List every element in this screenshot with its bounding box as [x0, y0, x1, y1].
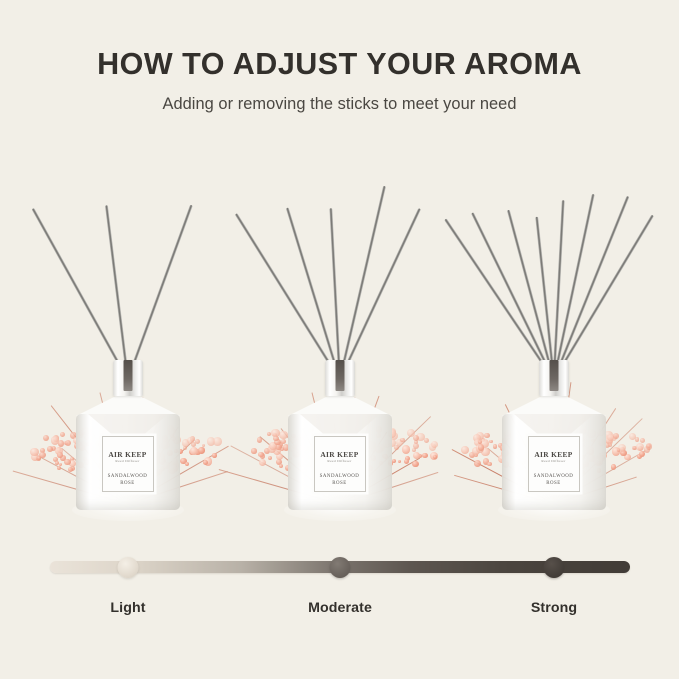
label-scent: SANDALWOOD ROSE [103, 474, 153, 487]
flower-blossom [279, 464, 283, 468]
flower-blossom [414, 440, 418, 444]
flower-blossom [198, 448, 203, 453]
flower-blossom [629, 433, 636, 440]
flower-blossom [273, 436, 278, 441]
bottle-collar [113, 360, 143, 396]
flower-blossom [478, 444, 484, 450]
bottle-label: AIR KEEP Reed Diffuser SANDALWOOD ROSE [314, 436, 366, 492]
diffuser-light: AIR KEEP Reed Diffuser SANDALWOOD ROSE [20, 150, 235, 510]
diffuser-strong: AIR KEEP Reed Diffuser SANDALWOOD ROSE [446, 150, 661, 510]
flower-blossom [60, 432, 65, 437]
flower-blossom [640, 438, 645, 443]
flower-blossom [64, 441, 68, 445]
flower-blossom [59, 463, 63, 467]
flower-blossom [605, 435, 613, 443]
flower-blossom [476, 432, 485, 441]
flower-blossom [268, 456, 272, 460]
product-row: AIR KEEP Reed Diffuser SANDALWOOD ROSE [0, 150, 679, 510]
flower-blossom [276, 459, 282, 465]
flower-blossom [416, 433, 425, 442]
flower-blossom [407, 429, 415, 437]
flower-blossom [613, 433, 619, 439]
flower-blossom [433, 455, 437, 459]
label-brand: AIR KEEP [529, 451, 579, 458]
flower-blossom [469, 452, 475, 458]
flower-blossom [274, 439, 280, 445]
flower-blossom [481, 448, 490, 457]
flower-blossom [37, 456, 41, 460]
flower-blossom [604, 431, 613, 440]
bottle-body: AIR KEEP Reed Diffuser SANDALWOOD ROSE [288, 414, 392, 510]
flower-blossom [617, 448, 621, 452]
flower-blossom [30, 448, 38, 456]
flower-blossom [55, 447, 63, 455]
reed-sticks-light [20, 150, 235, 380]
flower-blossom [273, 447, 281, 455]
flower-blossom [405, 456, 410, 461]
flower-blossom [190, 436, 195, 441]
bottle-label: AIR KEEP Reed Diffuser SANDALWOOD ROSE [102, 436, 154, 492]
flower-blossom [259, 459, 266, 466]
flower-blossom [400, 438, 405, 443]
flower-blossom [476, 444, 484, 452]
label-scent: SANDALWOOD ROSE [315, 474, 365, 487]
flower-blossom [260, 453, 266, 459]
flower-blossom [183, 446, 187, 450]
label-brand: AIR KEEP [103, 451, 153, 458]
flower-blossom [404, 459, 409, 464]
reed-stick [338, 186, 386, 381]
infographic-canvas: HOW TO ADJUST YOUR AROMA Adding or remov… [0, 0, 679, 679]
slider-label-moderate: Moderate [308, 600, 372, 616]
bottle-collar [325, 360, 355, 396]
flower-blossom [36, 456, 41, 461]
flower-blossom [190, 447, 198, 455]
flower-blossom [637, 454, 642, 459]
bottle-collar [539, 360, 569, 396]
flower-blossom [646, 444, 650, 448]
flower-blossom [185, 462, 189, 466]
flower-blossom [392, 459, 396, 463]
flower-blossom [195, 439, 200, 444]
flower-blossom [636, 443, 644, 451]
flower-blossom [430, 454, 434, 458]
flower-blossom [194, 449, 201, 456]
reed-stick [31, 208, 129, 381]
bottle-label: AIR KEEP Reed Diffuser SANDALWOOD ROSE [528, 436, 580, 492]
flower-blossom [60, 455, 65, 460]
flower-blossom [413, 443, 419, 449]
flower-blossom [474, 460, 481, 467]
label-scent-line1: SANDALWOOD [315, 474, 365, 481]
flower-blossom [257, 437, 263, 443]
diffuser-bottle-moderate: AIR KEEP Reed Diffuser SANDALWOOD ROSE [288, 360, 392, 510]
flower-blossom [647, 444, 651, 448]
flower-blossom [429, 443, 436, 450]
reed-sticks-moderate [232, 150, 447, 380]
flower-blossom [273, 433, 277, 437]
flower-blossom [480, 439, 489, 448]
label-scent: SANDALWOOD ROSE [529, 474, 579, 487]
flower-blossom [620, 450, 627, 457]
flower-blossom [606, 438, 613, 445]
flower-blossom [418, 454, 422, 458]
flower-blossom [207, 437, 215, 445]
flower-blossom [68, 467, 73, 472]
flower-blossom [633, 446, 638, 451]
flower-blossom [251, 448, 256, 453]
collar-opening [335, 360, 344, 391]
flower-blossom [430, 452, 438, 460]
flower-blossom [64, 459, 70, 465]
flower-blossom [608, 443, 612, 447]
flower-blossom [413, 452, 420, 459]
intensity-slider[interactable] [50, 558, 630, 576]
flower-blossom [258, 452, 264, 458]
flower-blossom [474, 439, 481, 446]
flower-blossom [57, 447, 61, 451]
flower-blossom [202, 444, 205, 447]
flower-blossom [431, 441, 438, 448]
flower-blossom [280, 447, 284, 451]
flower-blossom [55, 461, 59, 465]
diffuser-bottle-light: AIR KEEP Reed Diffuser SANDALWOOD ROSE [76, 360, 180, 510]
flower-blossom [624, 454, 631, 461]
reed-stick [338, 208, 421, 381]
flower-blossom [472, 447, 480, 455]
flower-blossom [53, 435, 59, 441]
flower-blossom [53, 457, 58, 462]
flower-blossom [58, 440, 65, 447]
flower-blossom [610, 434, 617, 441]
flower-blossom [493, 444, 498, 449]
flower-blossom [180, 458, 187, 465]
flower-blossom [612, 447, 620, 455]
reed-stick [234, 213, 341, 381]
flower-blossom [70, 466, 75, 471]
flower-blossom [402, 445, 411, 454]
flower-blossom [203, 460, 208, 465]
diffuser-moderate: AIR KEEP Reed Diffuser SANDALWOOD ROSE [232, 150, 447, 510]
flower-blossom [413, 435, 419, 441]
flower-blossom [51, 446, 56, 451]
flower-blossom [204, 457, 212, 465]
flower-blossom [40, 448, 45, 453]
flower-blossom [271, 429, 280, 438]
label-scent-line1: SANDALWOOD [529, 474, 579, 481]
label-brand: AIR KEEP [315, 451, 365, 458]
flower-blossom [618, 444, 626, 452]
flower-blossom [483, 458, 490, 465]
slider-label-strong: Strong [531, 600, 577, 616]
flower-blossom [424, 438, 429, 443]
flower-blossom [187, 437, 194, 444]
flower-blossom [47, 446, 53, 452]
reed-stick [126, 205, 193, 381]
flower-blossom [489, 440, 493, 444]
flower-blossom [39, 452, 46, 459]
flower-blossom [182, 439, 189, 446]
flower-blossom [198, 447, 205, 454]
reed-stick [552, 215, 654, 381]
header: HOW TO ADJUST YOUR AROMA Adding or remov… [0, 0, 679, 114]
label-scent-line2: ROSE [529, 481, 579, 488]
flower-blossom [51, 436, 59, 444]
slider-label-light: Light [110, 600, 145, 616]
flower-blossom [31, 453, 39, 461]
flower-blossom [212, 453, 217, 458]
flower-blossom [213, 437, 222, 446]
diffuser-bottle-strong: AIR KEEP Reed Diffuser SANDALWOOD ROSE [502, 360, 606, 510]
flower-blossom [57, 466, 61, 470]
label-scent-line1: SANDALWOOD [103, 474, 153, 481]
flower-blossom [461, 446, 469, 454]
flower-blossom [398, 460, 401, 463]
label-brand-sub: Reed Diffuser [103, 460, 153, 464]
label-brand-sub: Reed Diffuser [315, 460, 365, 464]
flower-blossom [644, 446, 650, 452]
label-scent-line2: ROSE [315, 481, 365, 488]
flower-blossom [635, 437, 640, 442]
flower-blossom [611, 464, 617, 470]
flower-blossom [276, 453, 283, 460]
flower-blossom [646, 443, 652, 449]
flower-blossom [639, 451, 645, 457]
slider-knob-strong[interactable] [544, 557, 565, 578]
reed-stick [470, 212, 555, 381]
flower-blossom [43, 435, 49, 441]
label-scent-line2: ROSE [103, 481, 153, 488]
flower-blossom [412, 461, 418, 467]
flower-blossom [473, 434, 481, 442]
flower-blossom [189, 449, 195, 455]
flower-blossom [268, 444, 276, 452]
flower-blossom [474, 453, 478, 457]
slider-knob-moderate[interactable] [330, 557, 351, 578]
flower-blossom [394, 445, 399, 450]
flower-blossom [484, 433, 489, 438]
collar-opening [123, 360, 132, 391]
flower-blossom [413, 462, 418, 467]
page-title: HOW TO ADJUST YOUR AROMA [0, 0, 679, 80]
flower-blossom [638, 446, 643, 451]
flower-blossom [608, 440, 612, 444]
flower-blossom [276, 442, 282, 448]
label-brand-sub: Reed Diffuser [529, 460, 579, 464]
flower-blossom [412, 448, 416, 452]
collar-opening [549, 360, 558, 391]
flower-blossom [275, 444, 282, 451]
flower-blossom [267, 432, 271, 436]
flower-blossom [422, 453, 428, 459]
flower-blossom [281, 439, 286, 444]
bottle-body: AIR KEEP Reed Diffuser SANDALWOOD ROSE [502, 414, 606, 510]
flower-blossom [269, 442, 277, 450]
flower-blossom [264, 448, 270, 454]
page-subtitle: Adding or removing the sticks to meet yo… [0, 80, 679, 114]
reed-sticks-strong [446, 150, 661, 380]
flower-blossom [200, 447, 205, 452]
slider-label-row: Light Moderate Strong [50, 600, 630, 622]
flower-blossom [607, 434, 614, 441]
flower-blossom [191, 442, 196, 447]
flower-blossom [396, 439, 403, 446]
flower-blossom [487, 462, 491, 466]
slider-knob-light[interactable] [118, 557, 139, 578]
flower-blossom [70, 457, 74, 461]
flower-blossom [57, 452, 63, 458]
bottle-body: AIR KEEP Reed Diffuser SANDALWOOD ROSE [76, 414, 180, 510]
flower-blossom [620, 447, 625, 452]
flower-blossom [632, 446, 636, 450]
flower-blossom [478, 440, 482, 444]
reed-stick [104, 205, 129, 380]
flower-blossom [65, 440, 71, 446]
flower-blossom [481, 438, 485, 442]
